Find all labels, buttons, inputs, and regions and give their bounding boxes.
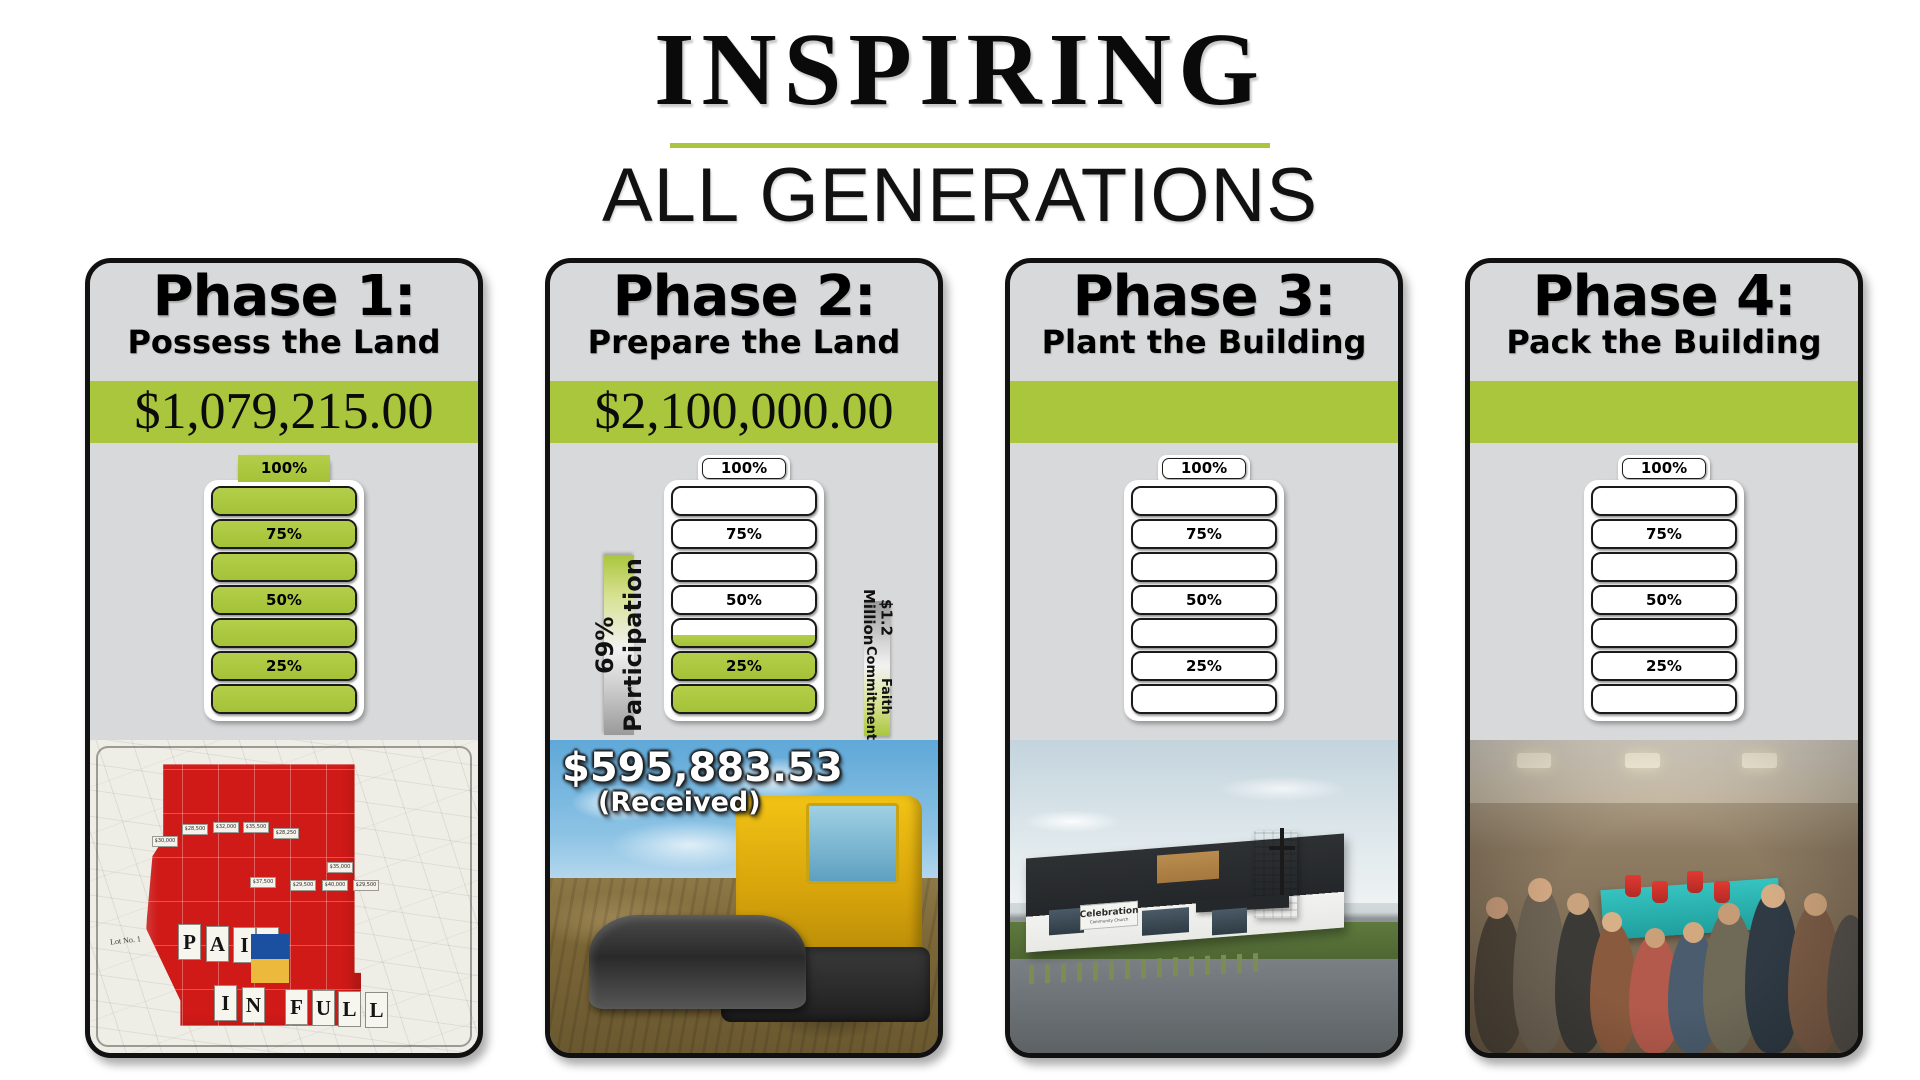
slide-canvas: INSPIRING ALL GENERATIONS Phase 1: Posse…	[0, 0, 1920, 1080]
phase-3-body: 100% 75% 50% 25%	[1010, 443, 1398, 740]
meter-segment	[671, 684, 817, 714]
lot-tag: $37,500	[250, 877, 276, 888]
phase-4-subtitle: Pack the Building	[1470, 325, 1858, 360]
participation-label: 69% Participation	[604, 555, 634, 735]
phase-1-body: 100% 75% 50% 25%	[90, 443, 478, 740]
meter-label-75: 75%	[726, 527, 762, 542]
phase-card-4[interactable]: Phase 4: Pack the Building 100% 75% 50%	[1465, 258, 1863, 1058]
phase-3-subtitle: Plant the Building	[1010, 325, 1398, 360]
meter-segment	[211, 486, 357, 516]
faith-commitments-line1: $1.2 Million	[860, 589, 895, 645]
phase-1-subtitle: Possess the Land	[90, 325, 478, 360]
phase-4-photo	[1470, 740, 1858, 1053]
phase-4-progress-meter: 100% 75% 50% 25%	[1584, 455, 1744, 721]
lot-tag: $40,000	[322, 880, 348, 891]
meter-label-100: 100%	[721, 461, 767, 476]
meter-shell: 75% 50% 25%	[1584, 480, 1744, 721]
plat-letter-tile: L	[338, 991, 361, 1027]
meter-segment: 75%	[211, 519, 357, 549]
lot-tag: $35,000	[327, 862, 353, 873]
faith-commitments-line2: Faith Commitments	[862, 646, 892, 748]
meter-segment	[671, 618, 817, 648]
lot-tag: $35,500	[243, 822, 269, 833]
phase-3-header: Phase 3: Plant the Building	[1010, 263, 1398, 381]
cross-icon	[1280, 828, 1284, 900]
plat-letter-tile: A	[206, 926, 229, 962]
lot-tag: $28,250	[273, 828, 299, 839]
meter-label-25: 25%	[726, 659, 762, 674]
phase-2-amount-band: $2,100,000.00	[550, 381, 938, 443]
meter-segment: 50%	[671, 585, 817, 615]
meter-label-50: 50%	[1646, 593, 1682, 608]
phase-2-header: Phase 2: Prepare the Land	[550, 263, 938, 381]
meter-segment	[1591, 486, 1737, 516]
phase-4-title: Phase 4:	[1470, 267, 1858, 327]
flag-square	[251, 934, 289, 983]
phase-2-amount: $2,100,000.00	[595, 386, 894, 438]
plat-letter-tile: U	[312, 990, 335, 1026]
meter-segment	[211, 552, 357, 582]
meter-shell: 75% 50% 25%	[1124, 480, 1284, 721]
phase-1-header: Phase 1: Possess the Land	[90, 263, 478, 381]
meter-segment	[1131, 684, 1277, 714]
phase-2-photo: $595,883.53 (Received)	[550, 740, 938, 1053]
crowd-photo-image	[1470, 740, 1858, 1053]
meter-segment: 50%	[211, 585, 357, 615]
phase-3-amount-band	[1010, 381, 1398, 443]
meter-cap-inner: 100%	[702, 458, 786, 479]
title-accent-rule	[670, 143, 1270, 148]
lot-tag: $29,500	[290, 880, 316, 891]
phase-1-amount-band: $1,079,215.00	[90, 381, 478, 443]
meter-segment: 50%	[1131, 585, 1277, 615]
meter-label-75: 75%	[266, 527, 302, 542]
received-amount: $595,883.53	[562, 748, 843, 788]
slide-header: INSPIRING ALL GENERATIONS	[0, 0, 1920, 250]
lot-tag: $28,500	[182, 824, 208, 835]
meter-cap-inner: 100%	[242, 458, 326, 479]
lot-tag: $32,000	[213, 822, 239, 833]
meter-segment	[1591, 618, 1737, 648]
phase-2-body: 69% Participation $1.2 Million Faith Com…	[550, 443, 938, 740]
phase-1-photo: $30,000 $28,500 $32,000 $35,500 $28,250 …	[90, 740, 478, 1053]
meter-shell: 75% 50% 25%	[204, 480, 364, 721]
meter-segment	[211, 618, 357, 648]
meter-segment: 75%	[1591, 519, 1737, 549]
meter-cap: 100%	[1618, 455, 1710, 482]
meter-label-25: 25%	[266, 659, 302, 674]
meter-label-100: 100%	[1641, 461, 1687, 476]
phase-card-2[interactable]: Phase 2: Prepare the Land $2,100,000.00 …	[545, 258, 943, 1058]
meter-label-50: 50%	[1186, 593, 1222, 608]
meter-label-75: 75%	[1646, 527, 1682, 542]
plat-letter-tile: L	[365, 992, 388, 1028]
plat-letter-tile: P	[178, 924, 201, 960]
meter-cap: 100%	[238, 455, 330, 482]
meter-label-50: 50%	[266, 593, 302, 608]
meter-label-50: 50%	[726, 593, 762, 608]
meter-cap: 100%	[1158, 455, 1250, 482]
meter-label-75: 75%	[1186, 527, 1222, 542]
faith-commitments-label: $1.2 Million Faith Commitments	[864, 601, 890, 736]
meter-segment: 25%	[1591, 651, 1737, 681]
received-overlay: $595,883.53 (Received)	[562, 748, 843, 818]
meter-shell: 75% 50% 25%	[664, 480, 824, 721]
meter-segment	[1591, 684, 1737, 714]
phase-2-progress-meter: 100% 75% 50% 25%	[664, 455, 824, 721]
meter-segment: 50%	[1591, 585, 1737, 615]
phase-1-title: Phase 1:	[90, 267, 478, 327]
lot-tag: $30,000	[152, 836, 178, 847]
phase-card-1[interactable]: Phase 1: Possess the Land $1,079,215.00 …	[85, 258, 483, 1058]
page-title: INSPIRING	[0, 18, 1920, 122]
meter-label-25: 25%	[1646, 659, 1682, 674]
meter-segment: 75%	[1131, 519, 1277, 549]
meter-cap-inner: 100%	[1622, 458, 1706, 479]
meter-segment	[1131, 486, 1277, 516]
phase-1-progress-meter: 100% 75% 50% 25%	[204, 455, 364, 721]
phase-1-amount: $1,079,215.00	[135, 386, 434, 438]
plat-letter-tile: F	[285, 989, 308, 1025]
meter-segment: 25%	[1131, 651, 1277, 681]
meter-segment	[1591, 552, 1737, 582]
lot-tag: $29,500	[353, 880, 379, 891]
meter-label-25: 25%	[1186, 659, 1222, 674]
meter-segment	[211, 684, 357, 714]
plat-letter-tile: N	[242, 987, 265, 1023]
meter-cap-inner: 100%	[1162, 458, 1246, 479]
meter-segment: 25%	[211, 651, 357, 681]
meter-segment	[1131, 552, 1277, 582]
plat-letter-tile: I	[214, 985, 237, 1021]
phase-2-title: Phase 2:	[550, 267, 938, 327]
cross-icon	[1269, 846, 1295, 850]
land-plat-image: $30,000 $28,500 $32,000 $35,500 $28,250 …	[90, 740, 478, 1053]
meter-label-100: 100%	[261, 461, 307, 476]
received-label: (Received)	[598, 788, 843, 818]
phase-4-amount-band	[1470, 381, 1858, 443]
meter-segment	[671, 486, 817, 516]
meter-segment	[1131, 618, 1277, 648]
phase-3-photo: Celebration Community Church	[1010, 740, 1398, 1053]
phase-4-header: Phase 4: Pack the Building	[1470, 263, 1858, 381]
meter-segment: 75%	[671, 519, 817, 549]
phase-3-progress-meter: 100% 75% 50% 25%	[1124, 455, 1284, 721]
page-subtitle: ALL GENERATIONS	[0, 158, 1920, 234]
phase-3-title: Phase 3:	[1010, 267, 1398, 327]
meter-label-100: 100%	[1181, 461, 1227, 476]
meter-segment	[671, 552, 817, 582]
meter-segment: 25%	[671, 651, 817, 681]
church-sign: Celebration Community Church	[1080, 900, 1138, 930]
building-render-image: Celebration Community Church	[1010, 740, 1398, 1053]
phase-card-3[interactable]: Phase 3: Plant the Building 100% 75% 50%	[1005, 258, 1403, 1058]
phase-2-subtitle: Prepare the Land	[550, 325, 938, 360]
phase-4-body: 100% 75% 50% 25%	[1470, 443, 1858, 740]
meter-cap: 100%	[698, 455, 790, 482]
